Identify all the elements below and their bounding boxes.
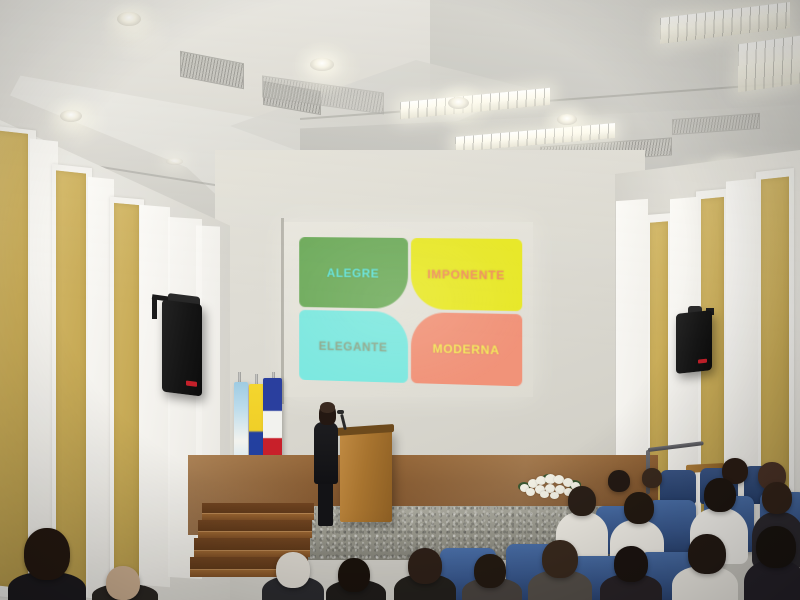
slide-quadrant-label: IMPONENTE [427,267,505,282]
podium [340,430,392,522]
presentation-slide: ALEGRE IMPONENTE ELEGANTE MODERNA [299,237,522,386]
wall-panel [114,203,139,583]
ceiling-downlight [60,110,82,122]
audience-head [688,534,726,574]
slide-quadrant-moderna: MODERNA [410,312,522,386]
audience-head [24,528,70,580]
slide-quadrant-label: ALEGRE [327,265,380,280]
microphone-icon [337,410,344,414]
presenter-head [320,402,335,413]
audience-head [568,486,596,516]
audience-head [642,468,662,488]
audience-head [624,492,654,524]
audience-head [614,546,648,582]
audience-head [408,548,442,584]
audience-head [474,554,506,588]
audience-head [106,566,140,600]
projection-screen-edge [281,218,284,404]
speaker-bracket-left [152,297,157,319]
slide-quadrant-label: ELEGANTE [319,338,388,354]
jbl-logo-icon [698,359,707,364]
slide-quadrant-imponente: IMPONENTE [410,238,522,311]
ceiling-downlight [557,114,577,125]
audience-head [542,540,578,578]
speaker-right[interactable] [676,310,712,374]
presenter-legs [318,478,333,526]
audience-head [608,470,630,492]
ceiling-downlight [310,58,334,71]
presenter-body [314,422,338,484]
strip-light [738,36,800,93]
audience-head [756,526,796,568]
audience-head [276,552,310,588]
slide-quadrant-alegre: ALEGRE [299,237,407,309]
audience-head [704,478,736,512]
seat [660,470,696,504]
ceiling-downlight [166,158,183,165]
slide-quadrant-label: MODERNA [433,341,500,357]
wall-pilaster [140,205,170,587]
ceiling-downlight [117,12,141,26]
slide-quadrant-elegante: ELEGANTE [299,310,407,383]
auditorium-scene: ALEGRE IMPONENTE ELEGANTE MODERNA [0,0,800,600]
wall-panel [0,130,28,589]
ceiling-downlight [448,97,469,109]
audience-head [338,558,370,592]
wall-panel [56,170,86,588]
jbl-logo-icon [186,380,197,386]
speaker-left[interactable] [162,300,202,397]
audience-head [762,482,792,514]
